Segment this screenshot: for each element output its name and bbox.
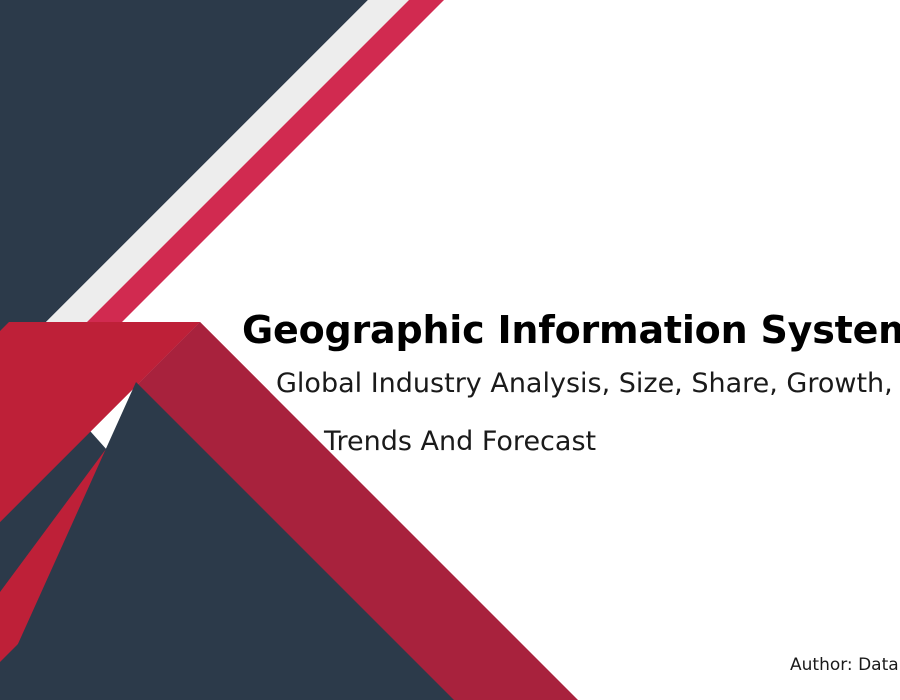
page-title: Geographic Information System xyxy=(242,307,900,353)
cover-slide: Geographic Information System Global Ind… xyxy=(0,0,900,700)
subtitle-line-2: Trends And Forecast xyxy=(324,424,596,460)
subtitle-line-1: Global Industry Analysis, Size, Share, G… xyxy=(276,366,893,402)
author-label: Author: Data xyxy=(790,653,899,677)
text-layer: Geographic Information System Global Ind… xyxy=(0,0,900,700)
